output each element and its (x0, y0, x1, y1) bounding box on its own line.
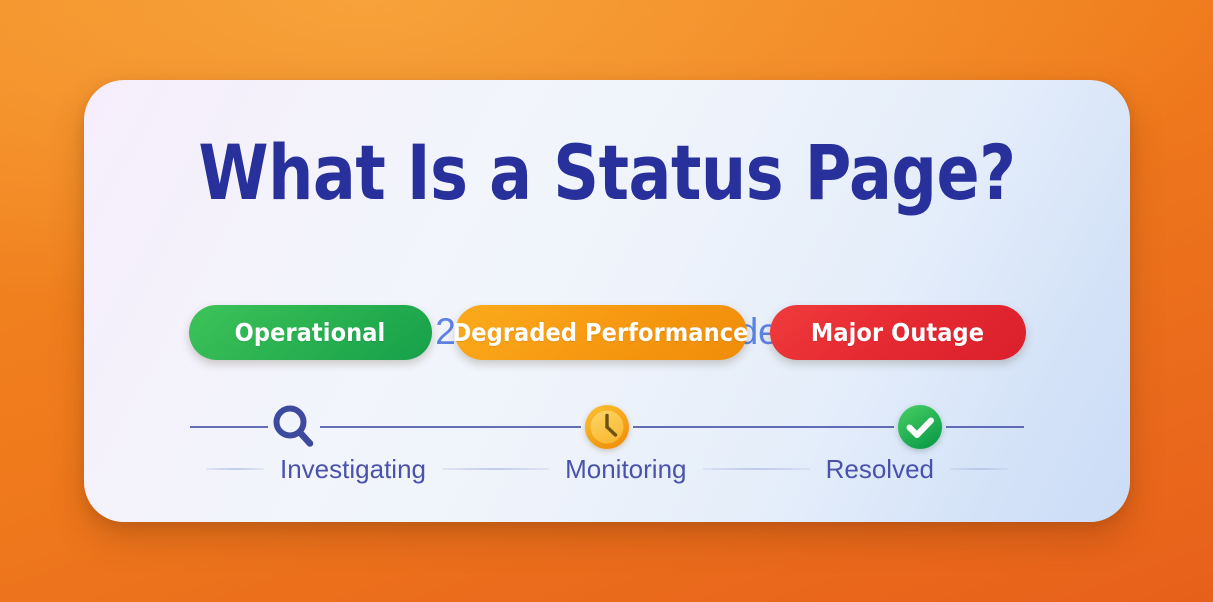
timeline-segment-2 (633, 426, 894, 428)
timeline-node-investigating[interactable] (268, 401, 320, 453)
page-title: What Is a Status Page? (121, 135, 1094, 211)
timeline-label-row: Investigating Monitoring Resolved (190, 452, 1024, 486)
timeline-segment-start (190, 426, 268, 428)
status-page-hero-card: What Is a Status Page? 2026 Practical Gu… (84, 80, 1130, 522)
timeline-label-resolved: Resolved (826, 454, 934, 485)
timeline-label-divider-start (206, 468, 264, 470)
timeline-label-divider-1 (442, 468, 549, 470)
status-pill-group: Operational Degraded Performance Major O… (84, 305, 1130, 360)
check-circle-icon (896, 403, 944, 451)
timeline-label-investigating: Investigating (280, 454, 426, 485)
timeline-track (190, 412, 1024, 442)
timeline-label-divider-end (950, 468, 1008, 470)
timeline-node-resolved[interactable] (894, 401, 946, 453)
status-pill-degraded-performance[interactable]: Degraded Performance (455, 305, 747, 360)
timeline-label-divider-2 (703, 468, 810, 470)
status-pill-major-outage[interactable]: Major Outage (770, 305, 1026, 360)
timeline-segment-1 (320, 426, 581, 428)
timeline-segment-end (946, 426, 1024, 428)
clock-icon (583, 403, 631, 451)
status-pill-operational[interactable]: Operational (189, 305, 432, 360)
timeline-node-monitoring[interactable] (581, 401, 633, 453)
incident-timeline: Investigating Monitoring Resolved (190, 390, 1024, 490)
magnifying-glass-icon (271, 404, 317, 450)
timeline-label-monitoring: Monitoring (565, 454, 686, 485)
